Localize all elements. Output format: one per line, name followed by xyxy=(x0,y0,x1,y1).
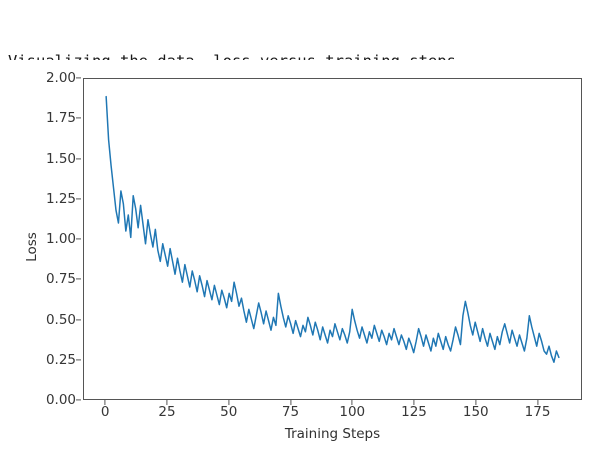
y-axis-tick-marks xyxy=(10,78,85,400)
plot-axes-area xyxy=(83,78,582,400)
y-tick-mark xyxy=(76,198,81,199)
y-tick-mark xyxy=(76,77,81,78)
loss-line-series xyxy=(106,97,559,363)
x-tick-label: 25 xyxy=(158,404,175,420)
x-axis-label: Training Steps xyxy=(83,426,582,442)
matplotlib-figure: 0.000.250.500.751.001.251.501.752.00 Los… xyxy=(10,60,590,448)
x-axis-tick-labels: 0255075100125150175 xyxy=(83,404,582,426)
y-tick-mark xyxy=(76,158,81,159)
y-tick-mark xyxy=(76,399,81,400)
y-tick-mark xyxy=(76,118,81,119)
y-axis-label: Loss xyxy=(24,187,40,307)
x-tick-label: 150 xyxy=(463,404,489,420)
y-tick-mark xyxy=(76,359,81,360)
notebook-output-page: Visualizing the data- loss versus traini… xyxy=(0,0,600,453)
x-tick-label: 0 xyxy=(101,404,110,420)
y-tick-mark xyxy=(76,238,81,239)
x-tick-label: 50 xyxy=(220,404,237,420)
x-tick-label: 125 xyxy=(401,404,427,420)
x-tick-label: 175 xyxy=(525,404,551,420)
x-tick-label: 100 xyxy=(339,404,365,420)
loss-curve-svg xyxy=(84,79,581,399)
y-tick-mark xyxy=(76,319,81,320)
x-tick-label: 75 xyxy=(282,404,299,420)
y-tick-mark xyxy=(76,279,81,280)
